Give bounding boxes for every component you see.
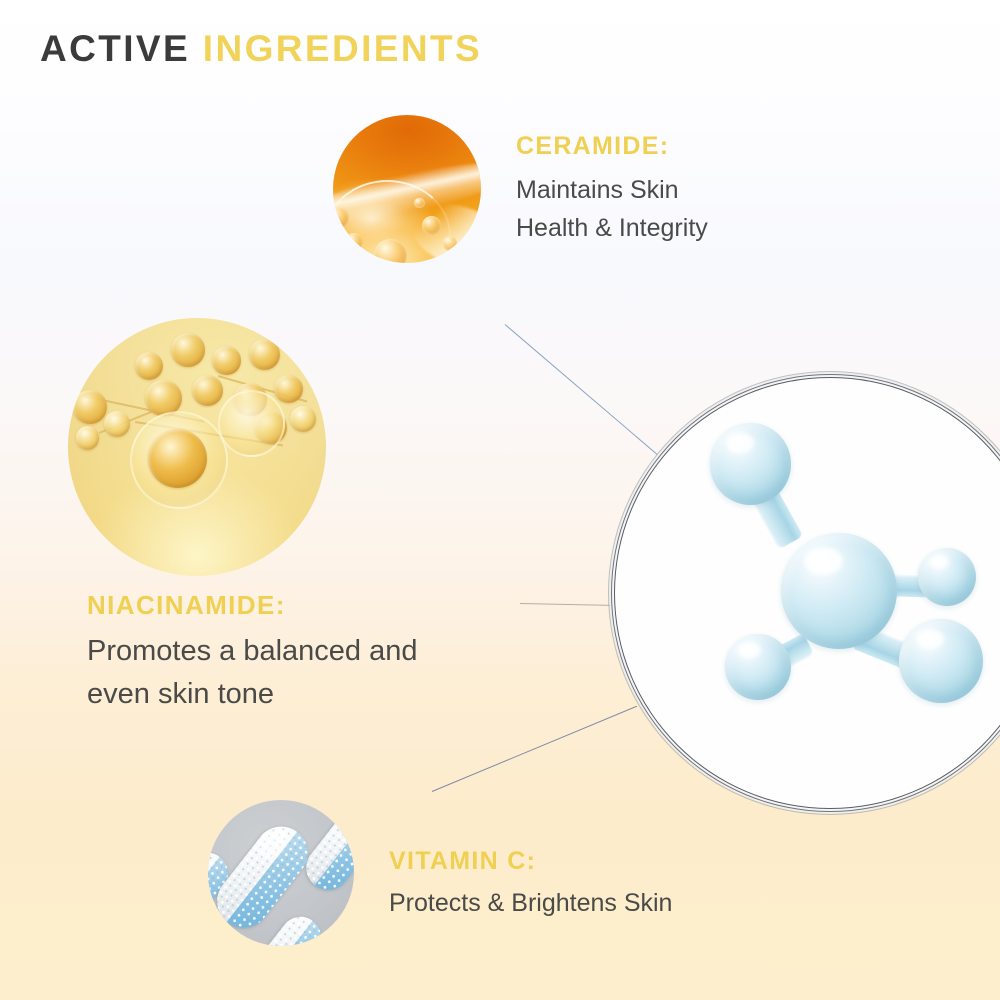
serum-droplet (290, 406, 316, 432)
ingredient-heading-vitamin-c: VITAMIN C: (389, 848, 672, 876)
description-line: Protects & Brightens Skin (389, 885, 672, 923)
serum-droplet (212, 346, 240, 374)
connector-line-vitamin-c (432, 706, 637, 792)
title-word-active: ACTIVE (40, 28, 190, 69)
molecule-atom-upper-left (710, 423, 792, 505)
ingredient-description-ceramide: Maintains Skin Health & Integrity (516, 171, 708, 247)
page-title: ACTIVE INGREDIENTS (40, 30, 482, 67)
oil-bubble (374, 239, 407, 263)
oil-bubble (414, 198, 424, 208)
capsule-beads (256, 908, 330, 946)
blue-beaded-capsules-photo (208, 800, 354, 946)
serum-droplet (171, 333, 205, 367)
description-line: Health & Integrity (516, 209, 708, 247)
ingredient-heading-niacinamide: NIACINAMIDE: (87, 591, 418, 620)
ingredient-description-vitamin-c: Protects & Brightens Skin (389, 885, 672, 923)
ingredient-block-ceramide: CERAMIDE: Maintains Skin Health & Integr… (516, 133, 708, 247)
serum-droplet (76, 426, 99, 449)
oil-bubble (422, 216, 441, 235)
serum-droplet (249, 339, 280, 370)
molecule-atom-right (918, 548, 976, 606)
ingredient-block-niacinamide: NIACINAMIDE: Promotes a balanced and eve… (87, 591, 418, 715)
molecule-atom-center (781, 533, 897, 649)
description-line: Promotes a balanced and (87, 630, 418, 673)
oil-bubble (345, 233, 363, 251)
molecule-atom-lower-right (899, 619, 983, 703)
serum-droplet (135, 352, 163, 380)
description-line: Maintains Skin (516, 171, 708, 209)
blue-molecule-illustration (615, 378, 1000, 808)
ingredient-description-niacinamide: Promotes a balanced and even skin tone (87, 630, 418, 716)
serum-droplet (73, 390, 107, 424)
active-ingredients-poster: ACTIVE INGREDIENTS (0, 0, 1000, 1000)
serum-droplet (274, 375, 302, 403)
capsule (256, 908, 330, 946)
ingredient-block-vitamin-c: VITAMIN C: Protects & Brightens Skin (389, 848, 672, 922)
serum-droplet (104, 411, 130, 437)
amber-oil-bubbles-photo (333, 115, 481, 263)
connector-line-ceramide (505, 324, 658, 455)
title-word-ingredients: INGREDIENTS (203, 28, 482, 69)
ingredient-heading-ceramide: CERAMIDE: (516, 133, 708, 161)
serum-droplet (192, 375, 223, 406)
description-line: even skin tone (87, 673, 418, 716)
molecule-atom-lower-left (725, 634, 792, 701)
golden-serum-droplets-photo (68, 318, 326, 576)
serum-droplet-ring (218, 390, 285, 457)
